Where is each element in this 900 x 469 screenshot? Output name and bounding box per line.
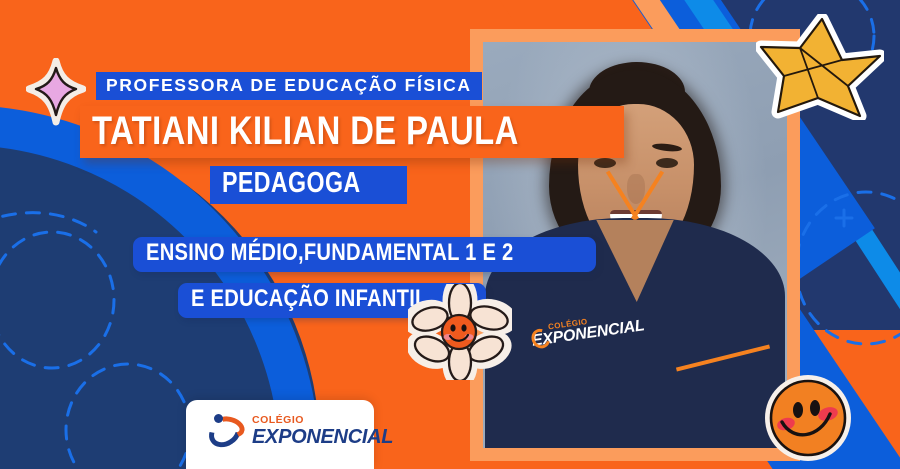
logo-colegio: COLÉGIO <box>252 415 393 426</box>
qualification-box: PEDAGOGA <box>210 166 407 204</box>
eyebrow-right <box>652 142 683 152</box>
teacher-name: TATIANI KILIAN DE PAULA <box>92 110 519 152</box>
brand-logo-wordmark: COLÉGIO EXPONENCIAL <box>252 415 393 447</box>
banner-canvas: COLÉGIO EXPONENCIAL PROFESSORA DE EDUCAÇ… <box>0 0 900 469</box>
flower-icon <box>408 284 512 380</box>
sleeve-trim <box>676 344 770 371</box>
eye-right <box>656 158 678 168</box>
sparkle-icon <box>26 58 86 126</box>
eye-left <box>594 158 616 168</box>
levels-line-2: E EDUCAÇÃO INFANTIL <box>191 286 428 313</box>
teacher-name-box: TATIANI KILIAN DE PAULA <box>80 106 624 158</box>
logo-dot <box>214 414 223 423</box>
smiley-icon <box>762 372 854 464</box>
levels-line-1-box: ENSINO MÉDIO,FUNDAMENTAL 1 E 2 <box>133 237 596 272</box>
brand-logo: COLÉGIO EXPONENCIAL <box>208 414 393 448</box>
role-tag: PROFESSORA DE EDUCAÇÃO FÍSICA <box>96 72 482 100</box>
v-neck-opening <box>591 220 679 302</box>
star-icon <box>756 14 884 120</box>
logo-exponencial: EXPONENCIAL <box>252 427 393 447</box>
brand-logo-card: COLÉGIO EXPONENCIAL <box>186 400 374 469</box>
levels-line-1: ENSINO MÉDIO,FUNDAMENTAL 1 E 2 <box>146 240 513 267</box>
qualification-label: PEDAGOGA <box>222 168 361 199</box>
shirt-logo: COLÉGIO EXPONENCIAL <box>530 310 646 350</box>
exponencial-e-icon <box>208 414 246 448</box>
